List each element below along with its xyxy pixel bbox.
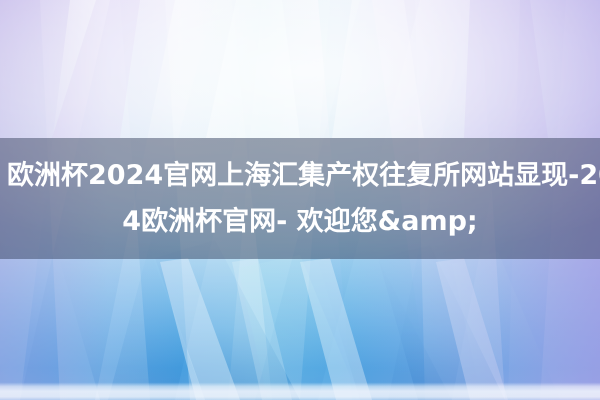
caption-line-1: 欧洲杯2024官网上海汇集产权往复所网站显现-202: [7, 153, 600, 199]
banner-image: 欧洲杯2024官网上海汇集产权往复所网站显现-202 4欧洲杯官网- 欢迎您&a…: [0, 0, 600, 400]
caption-band: 欧洲杯2024官网上海汇集产权往复所网站显现-202 4欧洲杯官网- 欢迎您&a…: [0, 138, 600, 259]
caption-line-2: 4欧洲杯官网- 欢迎您&amp;: [0, 199, 600, 245]
